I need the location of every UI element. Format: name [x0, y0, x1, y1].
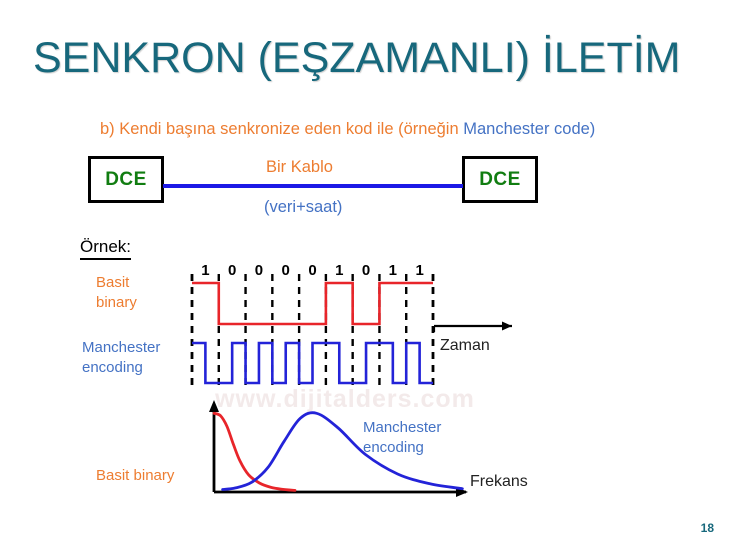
spectrum-legend-manchester: Manchester encoding — [363, 418, 441, 459]
watermark-text: www.dijitalders.com — [185, 385, 505, 414]
bit-digit: 1 — [413, 262, 427, 279]
waveform-label-basit-binary-line2: binary — [96, 294, 137, 311]
bit-digit: 0 — [359, 262, 373, 279]
cable-label-bottom: (veri+saat) — [264, 198, 342, 217]
waveform-label-basit-binary-line1: Basit — [96, 274, 129, 291]
waveform-label-manchester-line1: Manchester — [82, 339, 160, 356]
subtitle-line: b) Kendi başına senkronize eden kod ile … — [100, 120, 595, 139]
manchester-waveform — [192, 343, 433, 383]
frequency-axis-label: Frekans — [470, 473, 528, 491]
cable-connection-line — [163, 184, 463, 188]
waveform-label-manchester-encoding: Manchester encoding — [82, 338, 160, 379]
bit-digit: 1 — [386, 262, 400, 279]
subtitle-orange-text: b) Kendi başına senkronize eden kod ile … — [100, 120, 463, 138]
dce-left-label: DCE — [105, 169, 147, 191]
spectrum-legend-basit-binary: Basit binary — [96, 466, 174, 486]
dce-box-left: DCE — [88, 156, 164, 203]
waveform-label-manchester-line2: encoding — [82, 359, 143, 376]
slide-canvas: www.dijitalders.com SENKRON (EŞZAMANLI) … — [0, 0, 730, 547]
spectrum-legend-manchester-line1: Manchester — [363, 419, 441, 436]
nrz-waveform — [192, 283, 433, 324]
page-title: SENKRON (EŞZAMANLI) İLETİM — [33, 34, 680, 83]
waveform-label-basit-binary: Basit binary — [96, 273, 137, 314]
bit-digit: 0 — [279, 262, 293, 279]
cable-label-top: Bir Kablo — [266, 158, 333, 177]
spectrum-legend-manchester-line2: encoding — [363, 439, 424, 456]
bit-boundary-gridlines — [192, 274, 433, 388]
dce-box-right: DCE — [462, 156, 538, 203]
page-number: 18 — [701, 521, 714, 535]
subtitle-blue-text: Manchester code) — [463, 120, 595, 138]
bit-digit: 1 — [198, 262, 212, 279]
bit-digit: 0 — [252, 262, 266, 279]
time-axis-label: Zaman — [440, 337, 490, 355]
dce-right-label: DCE — [479, 169, 521, 191]
bit-digit: 0 — [225, 262, 239, 279]
bit-digit: 1 — [332, 262, 346, 279]
example-heading: Örnek: — [80, 238, 131, 260]
time-axis-arrow — [434, 322, 512, 333]
bit-digit: 0 — [306, 262, 320, 279]
